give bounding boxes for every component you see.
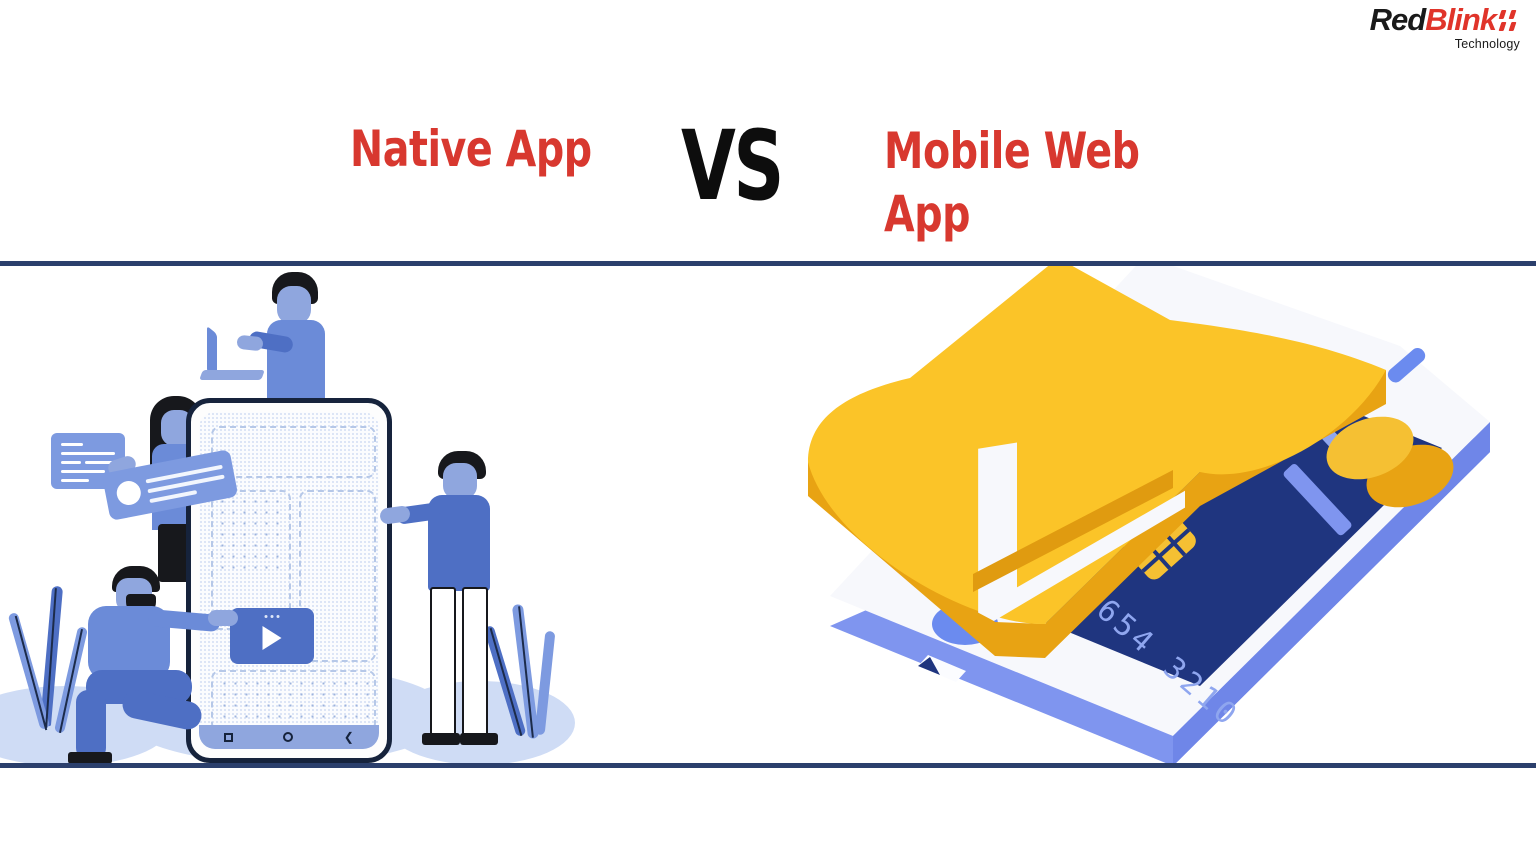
kneeling-bearded-man bbox=[60, 566, 230, 763]
video-card[interactable] bbox=[230, 608, 314, 664]
leg-right bbox=[462, 587, 488, 739]
hand bbox=[208, 610, 238, 626]
isometric-phone-card-shield: 1098 7654 3210 bbox=[790, 266, 1536, 763]
card-line bbox=[61, 479, 89, 482]
circle-icon[interactable] bbox=[283, 732, 293, 742]
logo-tagline: Technology bbox=[1370, 38, 1520, 51]
card-line bbox=[61, 452, 115, 455]
play-icon[interactable] bbox=[263, 626, 282, 650]
card-line bbox=[61, 461, 81, 464]
dot-grid bbox=[219, 678, 369, 726]
person-with-laptop bbox=[225, 272, 355, 412]
heading-native-app: Native App bbox=[350, 120, 614, 178]
laptop-icon bbox=[201, 330, 271, 382]
mobile-web-app-illustration: 1098 7654 3210 bbox=[790, 266, 1536, 763]
more-dots-icon bbox=[265, 615, 280, 618]
double-slash-icon bbox=[1496, 10, 1522, 32]
heading-mobile-web-app: Mobile Web App bbox=[884, 120, 1174, 245]
card-line bbox=[61, 443, 83, 446]
avatar bbox=[115, 479, 143, 507]
heading-mobile-web-app-line2: App bbox=[884, 183, 1174, 246]
back-chevron-icon[interactable]: ❮ bbox=[344, 731, 354, 743]
heading-mobile-web-app-line1: Mobile Web bbox=[884, 120, 1174, 183]
shin bbox=[76, 690, 106, 760]
head bbox=[443, 463, 477, 499]
heading-vs: VS bbox=[681, 118, 782, 214]
shoe bbox=[460, 733, 498, 745]
shoe bbox=[422, 733, 460, 745]
card-line bbox=[61, 470, 105, 473]
logo-wordmark: RedBlink bbox=[1370, 4, 1522, 35]
placeholder-block-1 bbox=[211, 426, 376, 478]
logo-word-blink: Blink bbox=[1425, 2, 1496, 37]
infographic-canvas: RedBlink Technology Native App VS Mobile… bbox=[0, 0, 1536, 865]
card-line bbox=[149, 490, 197, 503]
leg-left bbox=[430, 587, 456, 739]
illustration-band: ❮ bbox=[0, 266, 1536, 763]
shoe bbox=[68, 752, 112, 763]
head bbox=[277, 286, 311, 324]
dot-grid bbox=[217, 496, 285, 576]
logo-word-red: Red bbox=[1370, 2, 1426, 37]
bottom-rule bbox=[0, 763, 1536, 768]
redblink-logo[interactable]: RedBlink Technology bbox=[1370, 4, 1522, 51]
native-app-illustration: ❮ bbox=[0, 266, 600, 763]
man-holding-message-card bbox=[410, 451, 530, 763]
